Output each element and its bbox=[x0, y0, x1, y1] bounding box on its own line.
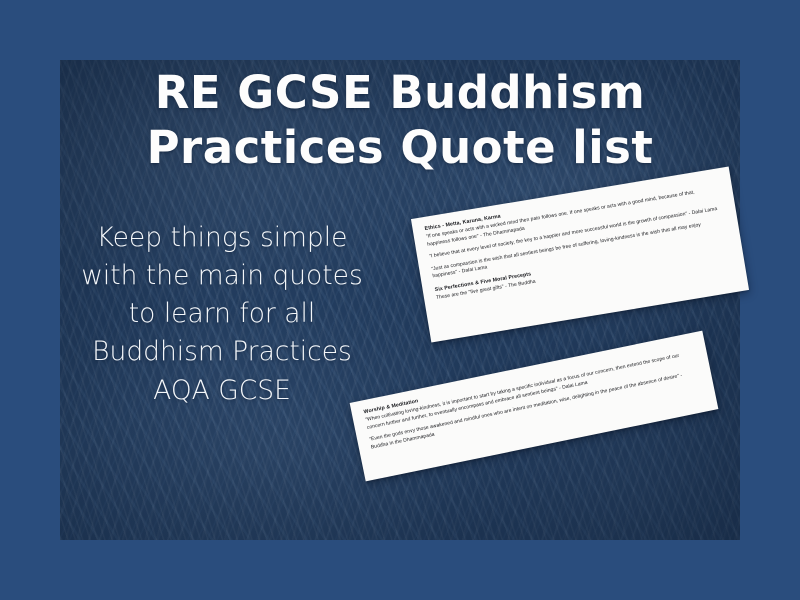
description-line-3: to learn for all bbox=[62, 295, 382, 333]
description-line-2: with the main quotes bbox=[62, 257, 382, 295]
page-title: RE GCSE Buddhism Practices Quote list bbox=[60, 66, 740, 176]
description-line-5: AQA GCSE bbox=[62, 372, 382, 410]
description-text: Keep things simple with the main quotes … bbox=[62, 219, 382, 410]
description-line-4: Buddhism Practices bbox=[62, 333, 382, 371]
page-title-line-1: RE GCSE Buddhism bbox=[60, 66, 740, 121]
description-line-1: Keep things simple bbox=[62, 219, 382, 257]
poster-canvas: RE GCSE Buddhism Practices Quote list Ke… bbox=[0, 0, 800, 600]
page-title-line-2: Practices Quote list bbox=[60, 121, 740, 176]
